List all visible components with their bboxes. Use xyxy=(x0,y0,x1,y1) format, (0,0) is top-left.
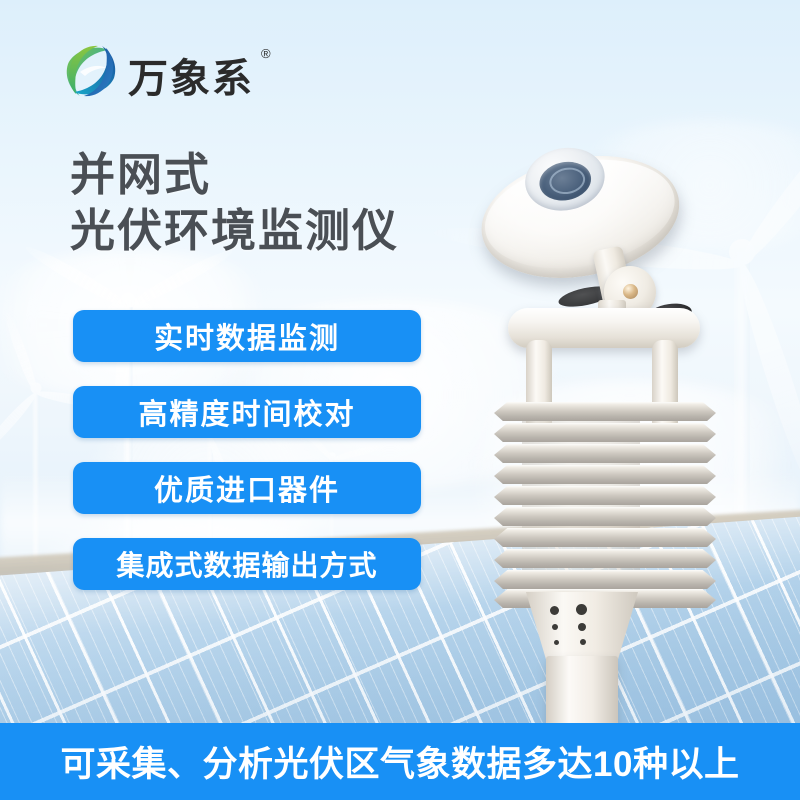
feature-label: 集成式数据输出方式 xyxy=(116,544,377,584)
globe-swirl-logo-icon xyxy=(62,42,120,100)
brand-name: 万象系 xyxy=(128,46,254,104)
solar-radiation-sensor xyxy=(468,122,693,307)
louver-plate xyxy=(494,570,716,589)
vent-hole xyxy=(580,639,586,645)
page-title: 并网式 光伏环境监测仪 xyxy=(70,147,399,259)
vent-hole xyxy=(552,624,558,630)
headline-line-1: 并网式 xyxy=(70,147,399,203)
feature-pill-4[interactable]: 集成式数据输出方式 xyxy=(73,538,421,590)
louver-plate xyxy=(494,549,716,568)
louver-plate xyxy=(494,465,716,484)
headline-line-2: 光伏环境监测仪 xyxy=(70,203,399,259)
louver-plate xyxy=(494,507,716,526)
louver-plate xyxy=(494,444,716,463)
feature-pill-3[interactable]: 优质进口器件 xyxy=(73,462,421,514)
louver-plate xyxy=(494,402,716,421)
feature-list: 实时数据监测 高精度时间校对 优质进口器件 集成式数据输出方式 xyxy=(73,310,421,614)
louver-plate xyxy=(494,486,716,505)
vent-hole xyxy=(578,623,586,631)
hinge-screw-icon xyxy=(623,284,638,299)
louver-plate xyxy=(494,528,716,547)
brand-logo[interactable]: 万象系 ® xyxy=(62,40,282,102)
vent-hole xyxy=(550,606,559,615)
product-image xyxy=(470,140,730,710)
radiation-shield xyxy=(494,402,716,604)
feature-label: 优质进口器件 xyxy=(154,467,340,509)
feature-label: 实时数据监测 xyxy=(154,315,340,357)
banner-text: 可采集、分析光伏区气象数据多达10种以上 xyxy=(61,736,740,787)
feature-pill-1[interactable]: 实时数据监测 xyxy=(73,310,421,362)
vent-hole xyxy=(554,640,559,645)
registered-mark: ® xyxy=(261,46,271,61)
feature-pill-2[interactable]: 高精度时间校对 xyxy=(73,386,421,438)
product-poster: 万象系 ® 并网式 光伏环境监测仪 实时数据监测 高精度时间校对 优质进口器件 … xyxy=(0,0,800,800)
bottom-banner: 可采集、分析光伏区气象数据多达10种以上 xyxy=(0,723,800,800)
vent-hole xyxy=(576,604,587,615)
feature-label: 高精度时间校对 xyxy=(138,391,355,433)
louver-plate xyxy=(494,423,716,442)
